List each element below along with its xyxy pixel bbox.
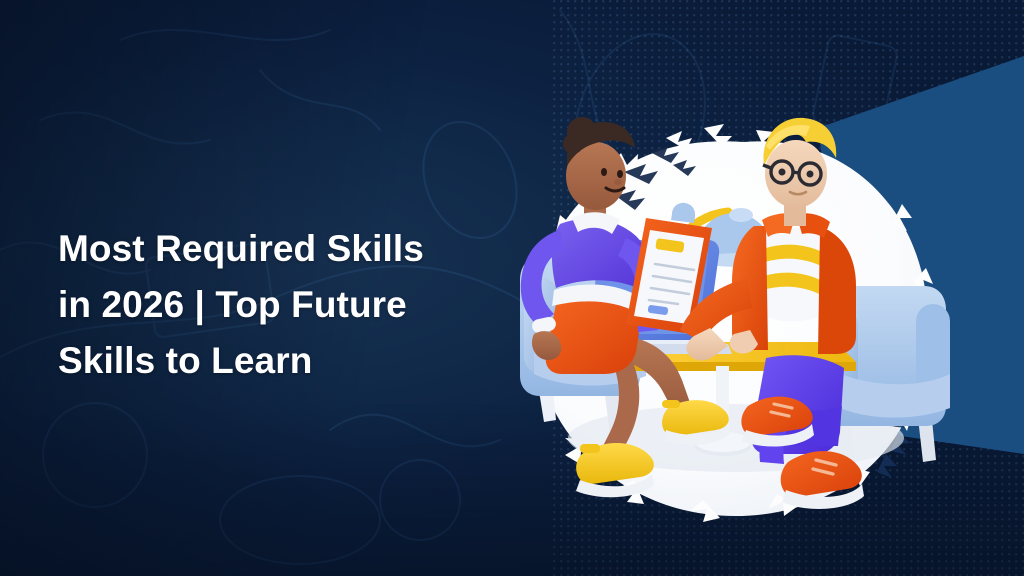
hero-illustration (498, 108, 968, 528)
shoe-yellow-front (576, 443, 654, 497)
shoe-orange-front (781, 451, 864, 509)
title-line-1: Most Required Skills (58, 221, 488, 277)
page-title: Most Required Skills in 2026 | Top Futur… (58, 221, 488, 390)
blog-hero-banner: Most Required Skills in 2026 | Top Futur… (0, 0, 1024, 576)
shoe-yellow-back (662, 400, 730, 445)
title-line-2: in 2026 | Top Future (58, 277, 488, 333)
title-line-3: Skills to Learn (58, 333, 488, 389)
shoe-orange-back (741, 397, 814, 447)
